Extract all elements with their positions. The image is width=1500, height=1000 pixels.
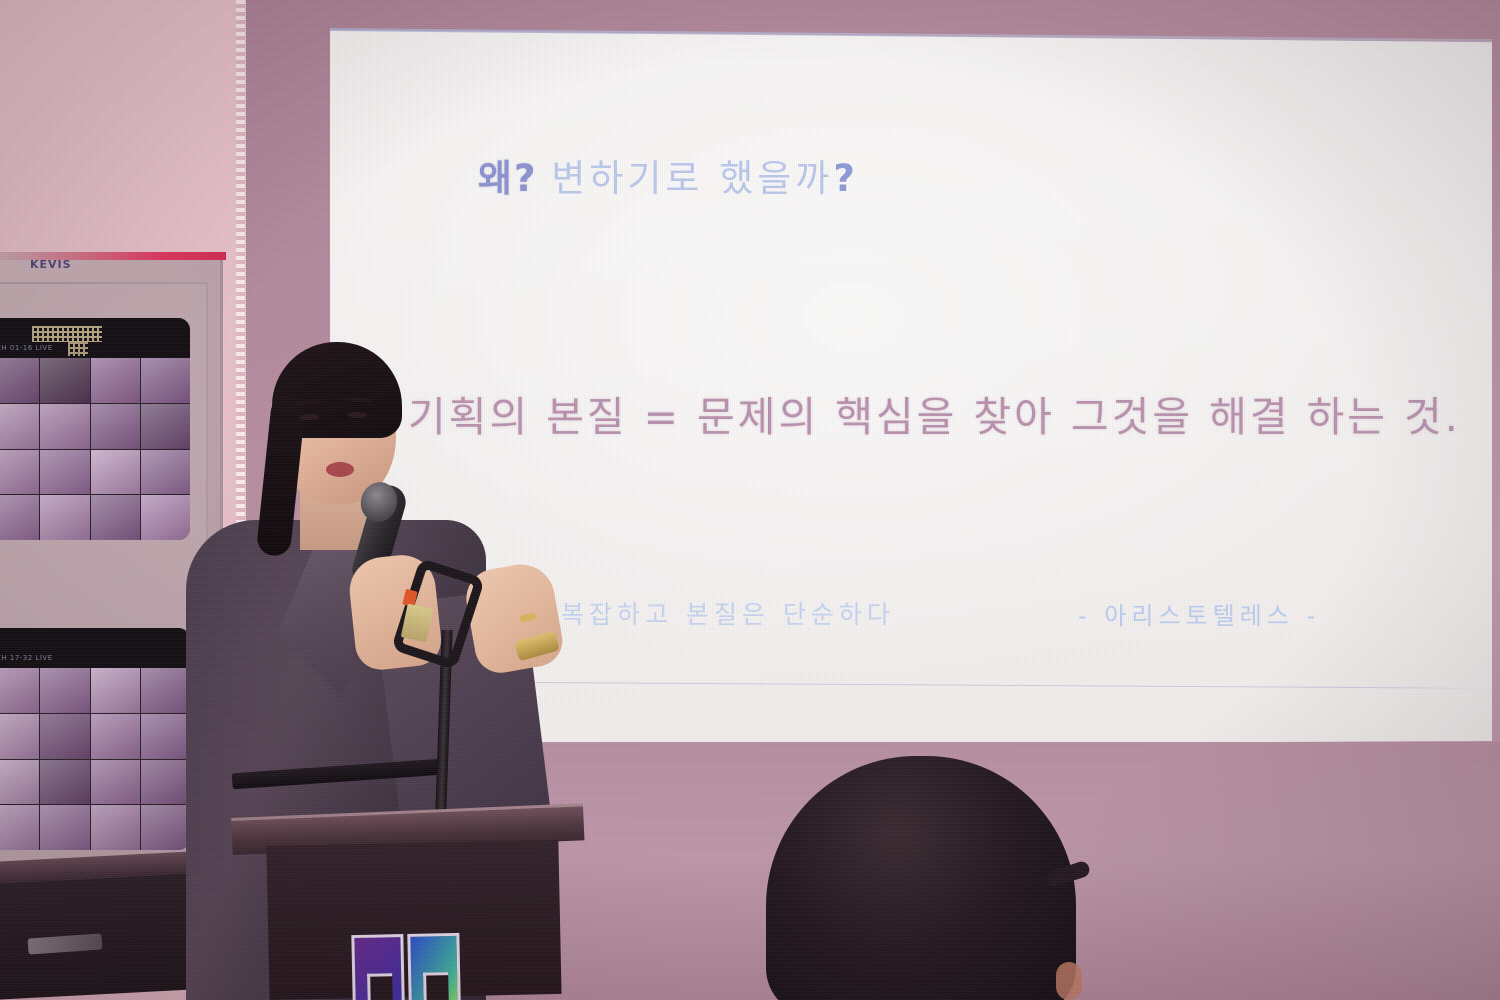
cctv-tile bbox=[91, 760, 140, 805]
cabinet-brand-label: KEVIS bbox=[30, 258, 72, 271]
cctv-tile bbox=[40, 714, 89, 759]
slide-title-rest-text: 변하기로 했을까 bbox=[551, 157, 833, 200]
cctv-tile bbox=[0, 714, 39, 759]
quote-mark-icon-right bbox=[407, 933, 460, 1000]
cctv-tile bbox=[0, 495, 39, 540]
slide-quote-text: 은 복잡하고 본질은 단순하다 bbox=[520, 595, 895, 631]
cctv-tile bbox=[91, 805, 140, 850]
cctv-tile bbox=[141, 805, 190, 850]
slide-main-statement: 기획의 본질 = 문제의 핵심을 찾아 그것을 해결 하는 것. bbox=[408, 383, 1461, 443]
cctv-tile bbox=[141, 450, 190, 495]
monitor-channel-label: CH 01-16 LIVE bbox=[0, 344, 53, 352]
slide-quote-author: - 아리스토텔레스 - bbox=[1078, 596, 1320, 631]
cctv-tile bbox=[91, 450, 140, 495]
cctv-monitor-top: CH 01-16 LIVE bbox=[0, 318, 190, 540]
monitor-channel-label: CH 17-32 LIVE bbox=[0, 654, 53, 662]
cctv-tile bbox=[0, 760, 39, 805]
cctv-tile bbox=[141, 404, 190, 449]
cctv-tile bbox=[40, 668, 89, 713]
cctv-tile bbox=[0, 450, 39, 495]
cctv-tile bbox=[141, 714, 190, 759]
monitor-top-bezel: CH 01-16 LIVE bbox=[0, 318, 190, 358]
presentation-photo-scene: 왜? 변하기로 했을까? 기획의 본질 = 문제의 핵심을 찾아 그것을 해결 … bbox=[0, 0, 1500, 1000]
cctv-tile bbox=[91, 495, 140, 540]
cctv-tile-grid bbox=[0, 668, 190, 850]
cctv-tile bbox=[0, 805, 39, 850]
cctv-tile bbox=[40, 805, 89, 850]
cctv-tile bbox=[141, 668, 190, 713]
monitor-led-matrix-secondary-icon bbox=[68, 342, 88, 356]
cctv-tile bbox=[141, 760, 190, 805]
slide-title: 왜? 변하기로 했을까? bbox=[478, 148, 859, 202]
audience-ear bbox=[1056, 962, 1082, 1000]
cctv-tile-grid bbox=[0, 358, 190, 540]
cctv-tile bbox=[0, 404, 39, 449]
monitor-top-bezel: CH 17-32 LIVE bbox=[0, 628, 190, 668]
cctv-tile bbox=[40, 404, 89, 449]
cctv-tile bbox=[91, 668, 140, 713]
podium-logo bbox=[351, 933, 458, 1000]
cctv-tile bbox=[91, 714, 140, 759]
cctv-tile bbox=[141, 495, 190, 540]
cctv-tile bbox=[141, 358, 190, 403]
cctv-monitor-bottom: CH 17-32 LIVE bbox=[0, 628, 190, 850]
monitor-led-matrix-icon bbox=[32, 326, 102, 342]
slide-title-rest: 변하기로 했을까? bbox=[551, 157, 859, 200]
cctv-tile bbox=[0, 358, 39, 403]
quote-mark-icon-left bbox=[351, 934, 404, 1000]
cctv-tile bbox=[40, 760, 89, 805]
cctv-tile bbox=[0, 668, 39, 713]
cctv-tile bbox=[91, 358, 140, 403]
cctv-tile bbox=[91, 404, 140, 449]
slide-title-question-mark: ? bbox=[833, 157, 858, 200]
speaker-mouth bbox=[326, 462, 354, 477]
slide-title-highlight: 왜? bbox=[478, 157, 538, 200]
cctv-tile bbox=[40, 450, 89, 495]
cctv-tile bbox=[40, 358, 89, 403]
cctv-tile bbox=[40, 495, 89, 540]
